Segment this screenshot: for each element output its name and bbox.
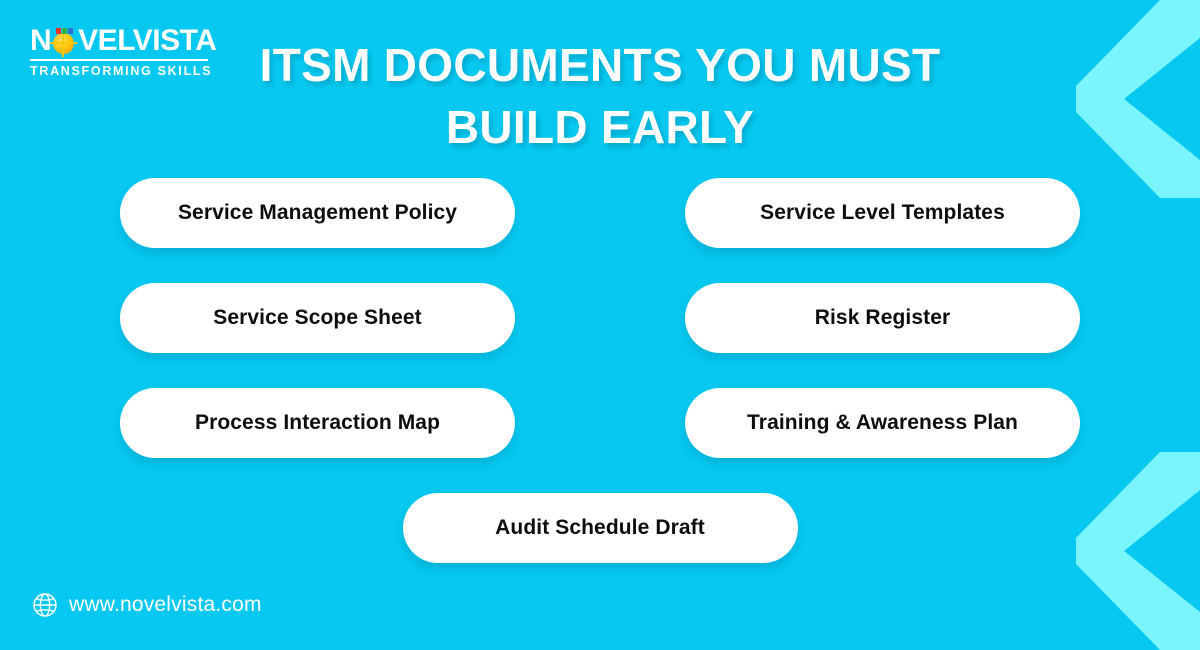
logo-wordmark: N VELVISTA — [30, 26, 220, 56]
document-pill-service-management-policy[interactable]: Service Management Policy — [120, 178, 515, 248]
sun-logo-mark-icon — [52, 29, 77, 54]
globe-icon — [32, 592, 58, 618]
brand-logo[interactable]: N VELVISTA TRANSFORMING SKILLS — [30, 26, 220, 78]
page-title-line-1: ITSM DOCUMENTS YOU MUST — [240, 34, 960, 96]
document-pill-risk-register[interactable]: Risk Register — [685, 283, 1080, 353]
page-title-line-2: BUILD EARLY — [240, 96, 960, 158]
sun-icon — [53, 33, 74, 54]
document-pill-training-awareness-plan[interactable]: Training & Awareness Plan — [685, 388, 1080, 458]
document-row-3: Process Interaction Map Training & Aware… — [120, 388, 1080, 458]
infographic-canvas: N VELVISTA TRANSFORMING SKILLS ITSM DOCU… — [0, 0, 1200, 650]
footer[interactable]: www.novelvista.com — [32, 592, 262, 618]
document-pill-service-scope-sheet[interactable]: Service Scope Sheet — [120, 283, 515, 353]
logo-tagline: TRANSFORMING SKILLS — [30, 64, 220, 78]
logo-color-dots — [56, 28, 73, 34]
website-url[interactable]: www.novelvista.com — [69, 593, 262, 617]
logo-text-before: N — [30, 26, 51, 56]
document-list: Service Management Policy Service Level … — [0, 178, 1200, 563]
logo-text-after: VELVISTA — [78, 26, 216, 56]
document-row-2: Service Scope Sheet Risk Register — [120, 283, 1080, 353]
chevron-top-right-icon — [1076, 0, 1200, 198]
logo-divider — [30, 59, 208, 61]
page-title: ITSM DOCUMENTS YOU MUST BUILD EARLY — [240, 34, 960, 158]
document-pill-process-interaction-map[interactable]: Process Interaction Map — [120, 388, 515, 458]
document-row-4: Audit Schedule Draft — [120, 493, 1080, 563]
document-pill-service-level-templates[interactable]: Service Level Templates — [685, 178, 1080, 248]
document-pill-audit-schedule-draft[interactable]: Audit Schedule Draft — [403, 493, 798, 563]
document-row-1: Service Management Policy Service Level … — [120, 178, 1080, 248]
